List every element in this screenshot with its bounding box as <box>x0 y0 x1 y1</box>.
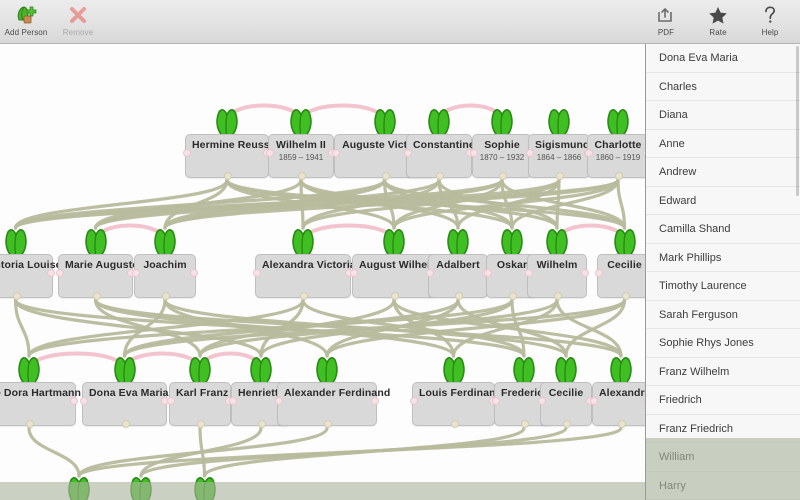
port-right[interactable] <box>190 269 198 277</box>
sidebar-scroll-thumb[interactable] <box>796 46 799 196</box>
person-name: Sophie <box>479 139 525 151</box>
port-left[interactable] <box>350 269 358 277</box>
person-name: Alexandra Victoria <box>262 259 344 271</box>
people-list-sidebar[interactable]: Dona Eva MariaCharlesDianaAnneAndrewEdwa… <box>645 44 800 500</box>
sidebar-person-item[interactable]: Sophie Rhys Jones <box>646 329 800 358</box>
person-name: Alexandri <box>599 387 643 399</box>
person-card[interactable]: Karl Franz <box>169 382 231 426</box>
port-bottom[interactable] <box>615 172 623 180</box>
person-card[interactable]: Hermine Reuss <box>185 134 269 178</box>
pdf-label: PDF <box>658 28 674 37</box>
person-card[interactable]: Louis Ferdinand <box>412 382 495 426</box>
sidebar-person-item[interactable]: Andrew <box>646 158 800 187</box>
sidebar-person-item[interactable]: Camilla Shand <box>646 215 800 244</box>
port-right[interactable] <box>371 397 379 405</box>
port-bottom[interactable] <box>258 420 266 428</box>
person-name: Sigismund <box>535 139 583 151</box>
port-left[interactable] <box>229 397 237 405</box>
remove-button[interactable]: Remove <box>52 0 104 42</box>
sidebar-person-item[interactable]: William <box>646 443 800 472</box>
sidebar-scrollbar[interactable] <box>795 44 800 500</box>
leaf-icon <box>64 474 94 500</box>
port-left[interactable] <box>410 397 418 405</box>
sidebar-person-item[interactable]: Timothy Laurence <box>646 272 800 301</box>
port-left[interactable] <box>525 269 533 277</box>
person-name: Victoria Louise <box>0 259 46 271</box>
person-card[interactable]: Sophie1870 – 1932 <box>472 134 532 178</box>
remove-x-icon <box>68 4 88 26</box>
port-bottom[interactable] <box>554 292 562 300</box>
port-left[interactable] <box>404 149 412 157</box>
port-bottom[interactable] <box>93 292 101 300</box>
person-card[interactable]: Alexandra Victoria <box>255 254 351 298</box>
person-card[interactable]: Victoria Louise <box>0 254 53 298</box>
rate-button[interactable]: Rate <box>692 0 744 42</box>
sidebar-person-item[interactable]: Sarah Ferguson <box>646 301 800 330</box>
port-bottom[interactable] <box>622 292 630 300</box>
person-name: Cecilie <box>604 259 645 271</box>
person-card[interactable]: August Wilhelm <box>352 254 436 298</box>
port-bottom[interactable] <box>197 420 205 428</box>
add-person-label: Add Person <box>5 28 48 37</box>
person-card[interactable]: Alexander Ferdinand <box>277 382 377 426</box>
help-button[interactable]: Help <box>744 0 796 42</box>
port-left[interactable] <box>253 269 261 277</box>
remove-label: Remove <box>63 28 93 37</box>
person-card[interactable]: Wilhelm II1859 – 1941 <box>268 134 334 178</box>
question-mark-icon <box>762 4 778 26</box>
person-dates: 1860 – 1919 <box>594 152 642 163</box>
port-left[interactable] <box>183 149 191 157</box>
port-bottom[interactable] <box>324 420 332 428</box>
add-person-button[interactable]: Add Person <box>0 0 52 42</box>
connector-line <box>29 428 79 476</box>
sidebar-person-item[interactable]: Harry <box>646 472 800 500</box>
port-bottom[interactable] <box>455 292 463 300</box>
port-bottom[interactable] <box>499 172 507 180</box>
port-bottom[interactable] <box>436 172 444 180</box>
toolbar-right-group: PDF Rate Help <box>640 0 796 42</box>
port-right[interactable] <box>47 269 55 277</box>
person-card[interactable]: se Dora Hartmann <box>0 382 76 426</box>
port-left[interactable] <box>538 397 546 405</box>
port-bottom[interactable] <box>26 420 34 428</box>
person-card[interactable]: Joachim <box>134 254 196 298</box>
rate-label: Rate <box>709 28 726 37</box>
star-icon <box>708 4 728 26</box>
port-bottom[interactable] <box>509 292 517 300</box>
person-dates: 1864 – 1866 <box>535 152 583 163</box>
family-tree-canvas[interactable]: Hermine ReussWilhelm II1859 – 1941August… <box>0 44 645 500</box>
port-left[interactable] <box>484 269 492 277</box>
port-left[interactable] <box>56 269 64 277</box>
port-bottom[interactable] <box>451 420 459 428</box>
sidebar-person-item[interactable]: Anne <box>646 130 800 159</box>
port-left[interactable] <box>595 269 603 277</box>
person-card[interactable]: Sigismund1864 – 1866 <box>528 134 590 178</box>
leaf-icon <box>190 474 220 500</box>
person-card[interactable]: Marie Auguste <box>58 254 133 298</box>
person-name: Wilhelm II <box>275 139 327 151</box>
sidebar-person-item[interactable]: Charles <box>646 73 800 102</box>
person-name: Louis Ferdinand <box>419 387 488 399</box>
add-person-icon <box>15 4 37 26</box>
port-left[interactable] <box>470 149 478 157</box>
port-left[interactable] <box>585 149 593 157</box>
person-card[interactable]: Adalbert <box>428 254 488 298</box>
port-left[interactable] <box>80 397 88 405</box>
port-bottom[interactable] <box>162 292 170 300</box>
port-left[interactable] <box>266 149 274 157</box>
person-card[interactable]: Cecilie <box>540 382 592 426</box>
port-left[interactable] <box>132 269 140 277</box>
port-left[interactable] <box>426 269 434 277</box>
port-left[interactable] <box>167 397 175 405</box>
person-dates: 1859 – 1941 <box>275 152 327 163</box>
toolbar-left-group: Add Person Remove <box>0 0 104 42</box>
person-name: Hermine Reuss <box>192 139 262 151</box>
person-name: Marie Auguste <box>65 259 126 271</box>
port-right[interactable] <box>70 397 78 405</box>
person-name: August Wilhelm <box>359 259 429 271</box>
person-card[interactable]: Constantine I <box>406 134 472 178</box>
person-name: se Dora Hartmann <box>0 387 69 399</box>
port-right[interactable] <box>581 269 589 277</box>
person-card[interactable]: Charlotte1860 – 1919 <box>587 134 645 178</box>
sidebar-person-item[interactable]: Diana <box>646 101 800 130</box>
sidebar-person-item[interactable]: Friedrich <box>646 386 800 415</box>
person-name: Charlotte <box>594 139 642 151</box>
port-bottom[interactable] <box>382 172 390 180</box>
person-name: Karl Franz <box>176 387 224 399</box>
port-bottom[interactable] <box>122 420 130 428</box>
person-name: Constantine I <box>413 139 465 151</box>
person-card[interactable]: Wilhelm <box>527 254 587 298</box>
port-left[interactable] <box>590 397 598 405</box>
sidebar-person-item[interactable]: Edward <box>646 187 800 216</box>
port-left[interactable] <box>332 149 340 157</box>
leaf-icon <box>126 474 156 500</box>
sidebar-person-item[interactable]: Mark Phillips <box>646 244 800 273</box>
port-bottom[interactable] <box>618 420 626 428</box>
person-card[interactable]: Alexandri <box>592 382 645 426</box>
export-pdf-icon <box>657 4 675 26</box>
port-bottom[interactable] <box>521 420 529 428</box>
port-bottom[interactable] <box>391 292 399 300</box>
app-window: Add Person Remove PDF <box>0 0 800 500</box>
person-dates: 1870 – 1932 <box>479 152 525 163</box>
sidebar-person-item[interactable]: Franz Friedrich <box>646 415 800 444</box>
port-bottom[interactable] <box>300 292 308 300</box>
person-card[interactable]: Cecilie <box>597 254 645 298</box>
people-list: Dona Eva MariaCharlesDianaAnneAndrewEdwa… <box>646 44 800 500</box>
toolbar: Add Person Remove PDF <box>0 0 800 44</box>
port-bottom[interactable] <box>298 172 306 180</box>
sidebar-person-item[interactable]: Dona Eva Maria <box>646 44 800 73</box>
port-bottom[interactable] <box>556 172 564 180</box>
person-name: Wilhelm <box>534 259 580 271</box>
person-card[interactable]: Dona Eva Maria <box>82 382 167 426</box>
port-bottom[interactable] <box>563 420 571 428</box>
port-bottom[interactable] <box>224 172 232 180</box>
sidebar-person-item[interactable]: Franz Wilhelm <box>646 358 800 387</box>
port-left[interactable] <box>526 149 534 157</box>
person-name: Dona Eva Maria <box>89 387 160 399</box>
port-left[interactable] <box>492 397 500 405</box>
port-left[interactable] <box>275 397 283 405</box>
help-label: Help <box>762 28 779 37</box>
person-name: Alexander Ferdinand <box>284 387 370 399</box>
port-bottom[interactable] <box>13 292 21 300</box>
person-name: Cecilie <box>547 387 585 399</box>
person-name: Joachim <box>141 259 189 271</box>
person-name: Adalbert <box>435 259 481 271</box>
pdf-button[interactable]: PDF <box>640 0 692 42</box>
